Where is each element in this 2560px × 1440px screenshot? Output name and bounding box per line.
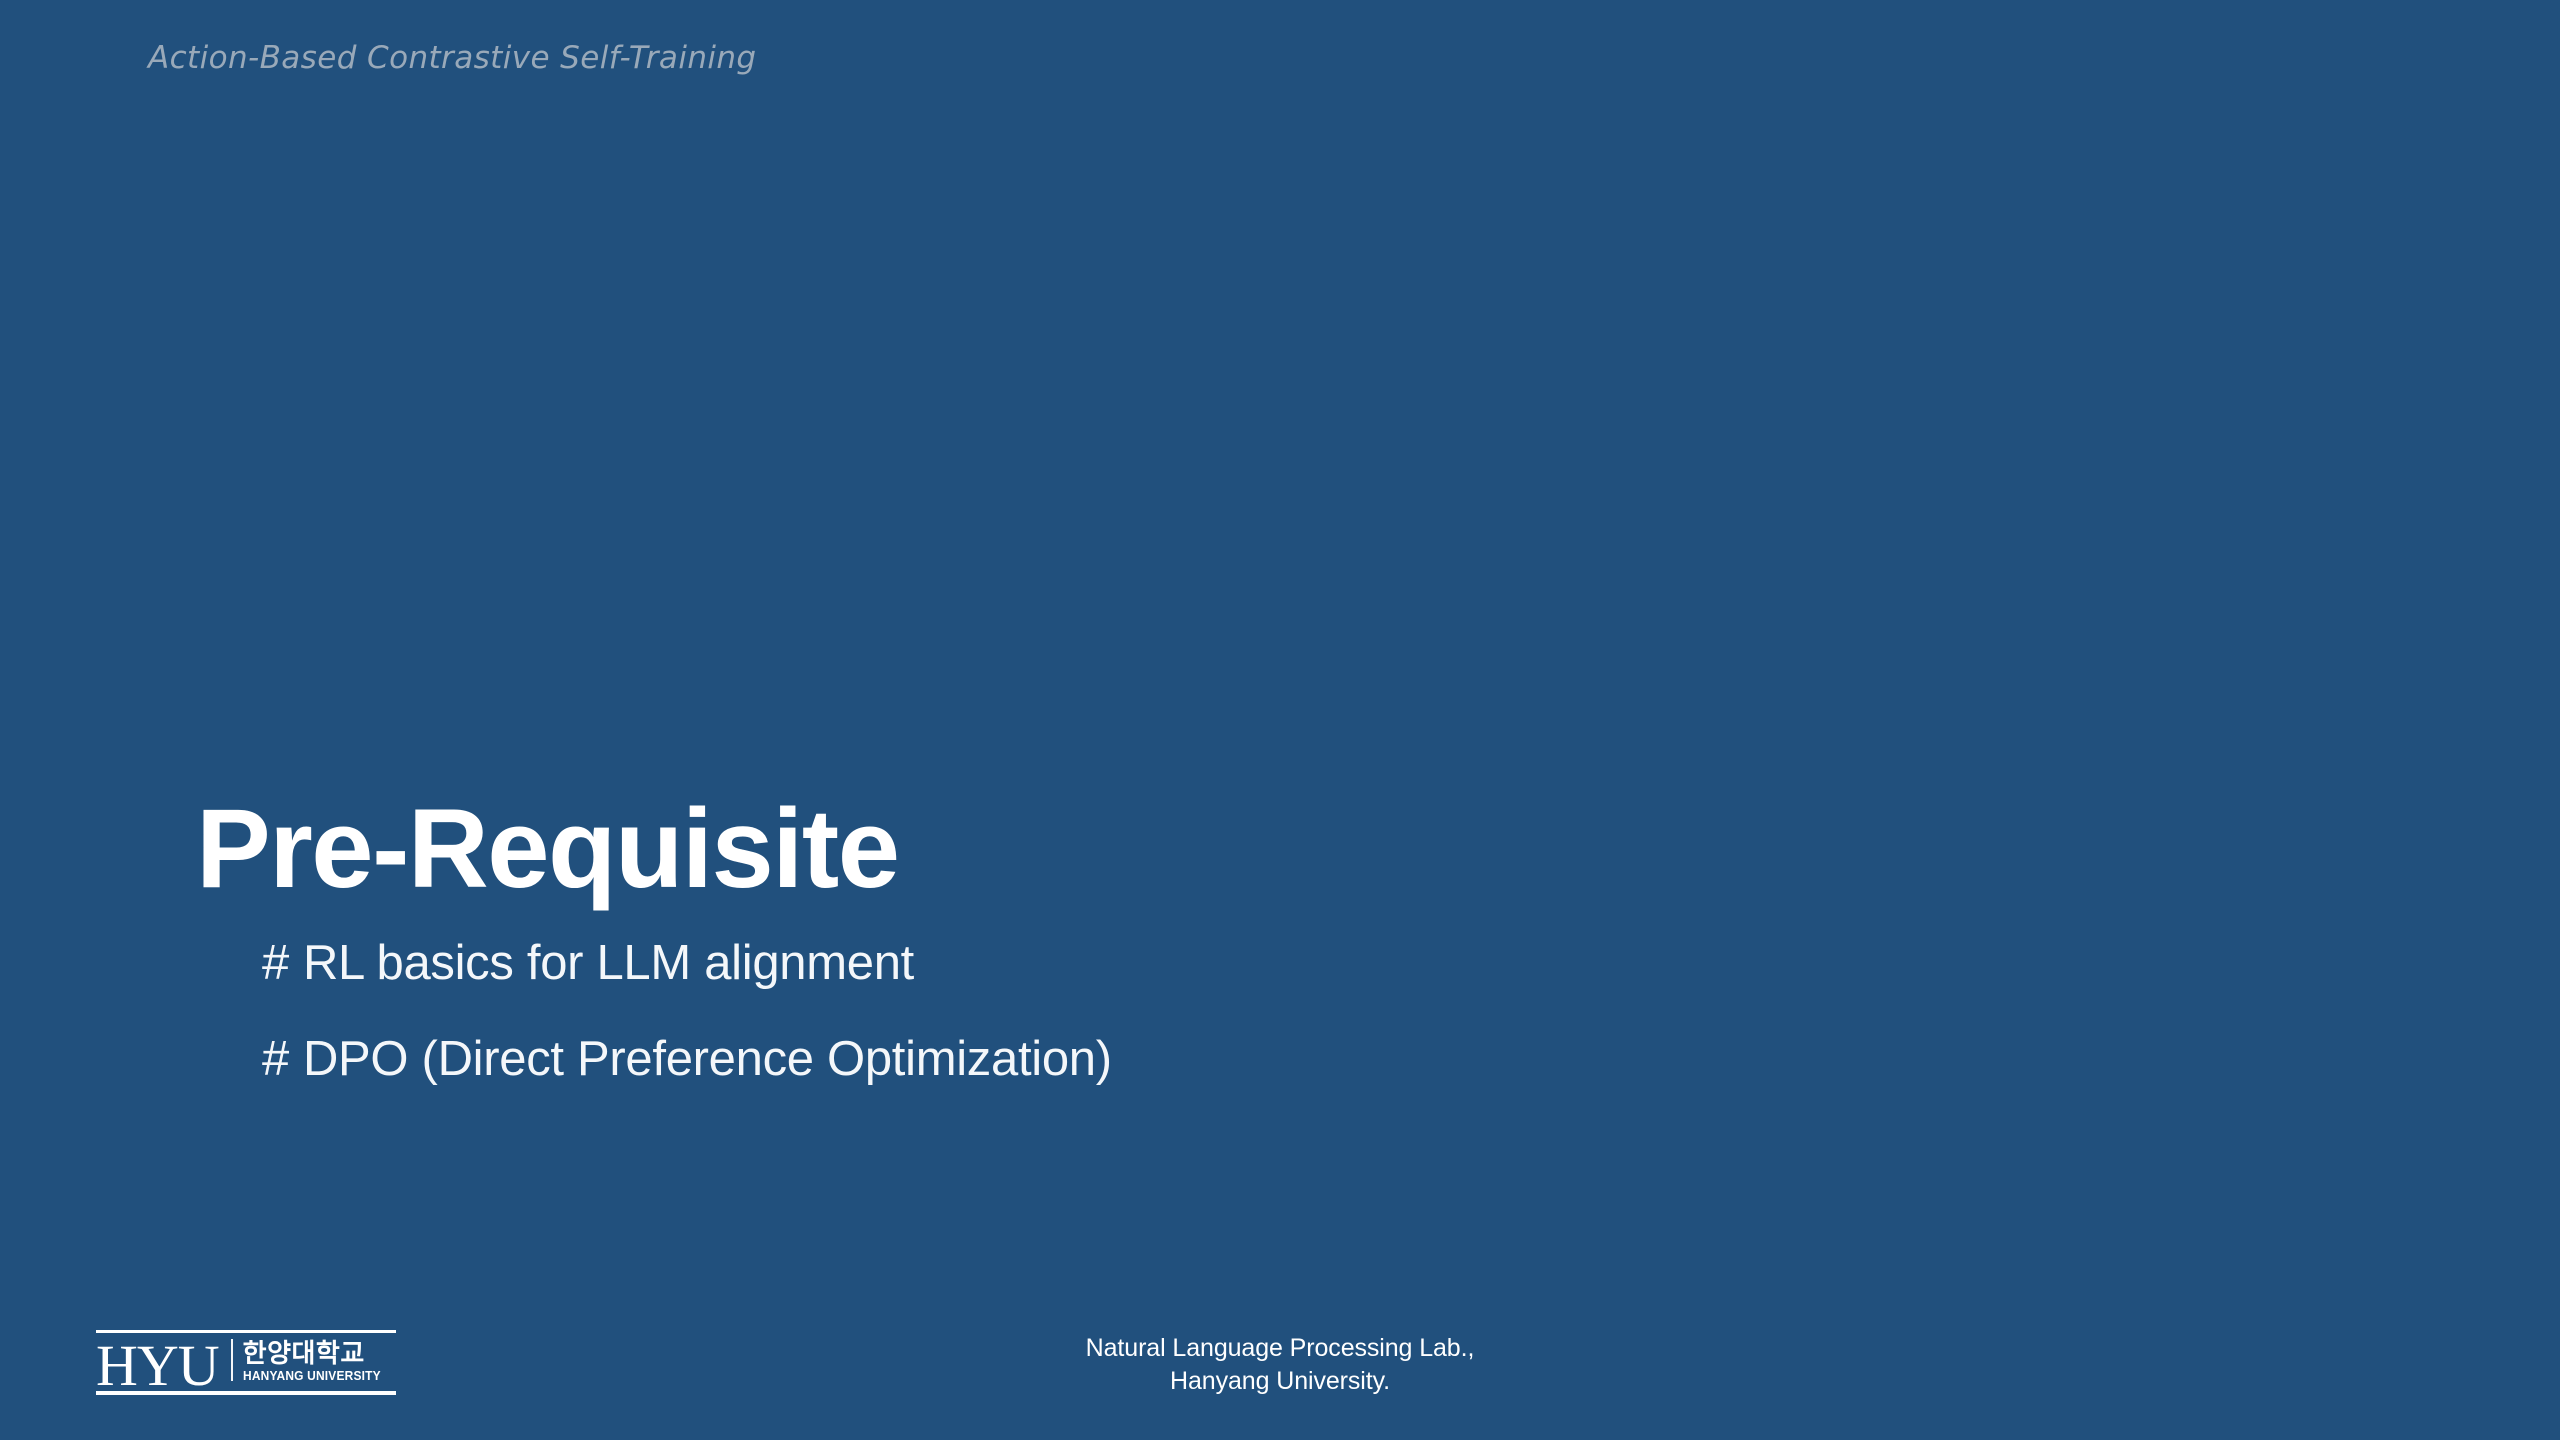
slide-bullet-list: #RL basics for LLM alignment #DPO (Direc… [262,935,2196,1089]
list-item-label: RL basics for LLM alignment [303,936,914,990]
hash-bullet-icon: # [262,935,289,993]
hash-bullet-icon: # [262,1031,289,1089]
logo-divider [231,1339,233,1381]
logo-korean-name: 한양대학교 [243,1341,393,1367]
logo-acronym: HYU [96,1340,231,1391]
slide-title: Pre-Requisite [196,790,2196,909]
list-item: #RL basics for LLM alignment [262,935,2196,993]
presentation-slide: Action-Based Contrastive Self-Training P… [0,0,2560,1440]
logo-english-name: HANYANG UNIVERSITY [243,1369,381,1383]
slide-content-block: Pre-Requisite #RL basics for LLM alignme… [196,790,2196,1088]
hyu-university-logo: HYU 한양대학교 HANYANG UNIVERSITY [96,1330,396,1395]
list-item-label: DPO (Direct Preference Optimization) [303,1032,1112,1086]
logo-name-group: 한양대학교 HANYANG UNIVERSITY [243,1341,393,1387]
slide-running-header: Action-Based Contrastive Self-Training [148,40,757,76]
logo-body: HYU 한양대학교 HANYANG UNIVERSITY [96,1333,396,1387]
list-item: #DPO (Direct Preference Optimization) [262,1031,2196,1089]
